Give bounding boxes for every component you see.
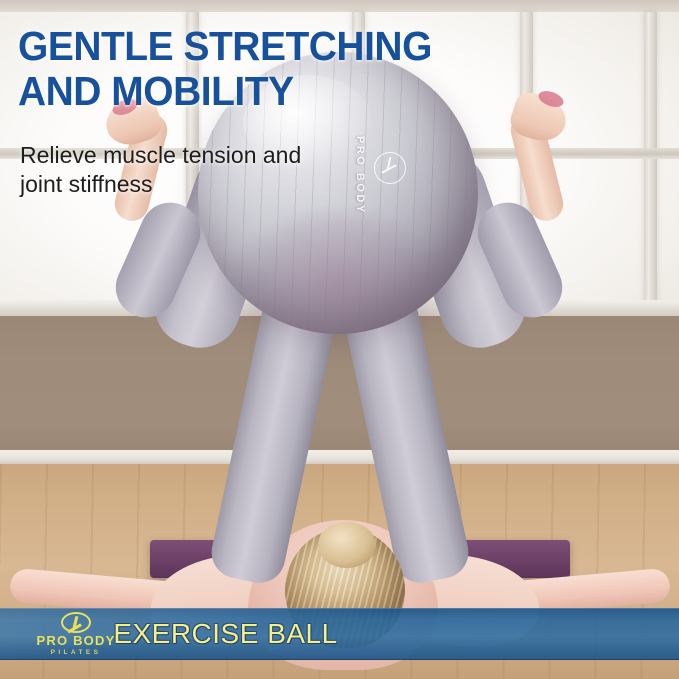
brand-name: PRO BODY xyxy=(37,634,116,647)
bottom-banner: PRO BODY PILATES EXERCISE BALL xyxy=(0,608,679,660)
ball-shadow-tint xyxy=(198,182,478,334)
subhead-line-2: joint stiffness xyxy=(20,170,440,199)
headline-line-1: GENTLE STRETCHING xyxy=(18,24,626,69)
wall-lower xyxy=(0,316,679,456)
product-title: EXERCISE BALL xyxy=(118,608,333,660)
product-image: PRO BODY GENTLE STRETCHING AND MOBILITY … xyxy=(0,0,679,679)
window-mullion-vertical xyxy=(644,12,657,308)
brand-tagline: PILATES xyxy=(51,648,102,658)
page-title: GENTLE STRETCHING AND MOBILITY xyxy=(18,24,626,114)
hair-bun xyxy=(318,522,376,568)
subtitle: Relieve muscle tension and joint stiffne… xyxy=(20,141,440,199)
headline-line-2: AND MOBILITY xyxy=(18,69,626,114)
subhead-line-1: Relieve muscle tension and xyxy=(20,141,440,170)
pilates-figure-icon xyxy=(61,612,91,633)
